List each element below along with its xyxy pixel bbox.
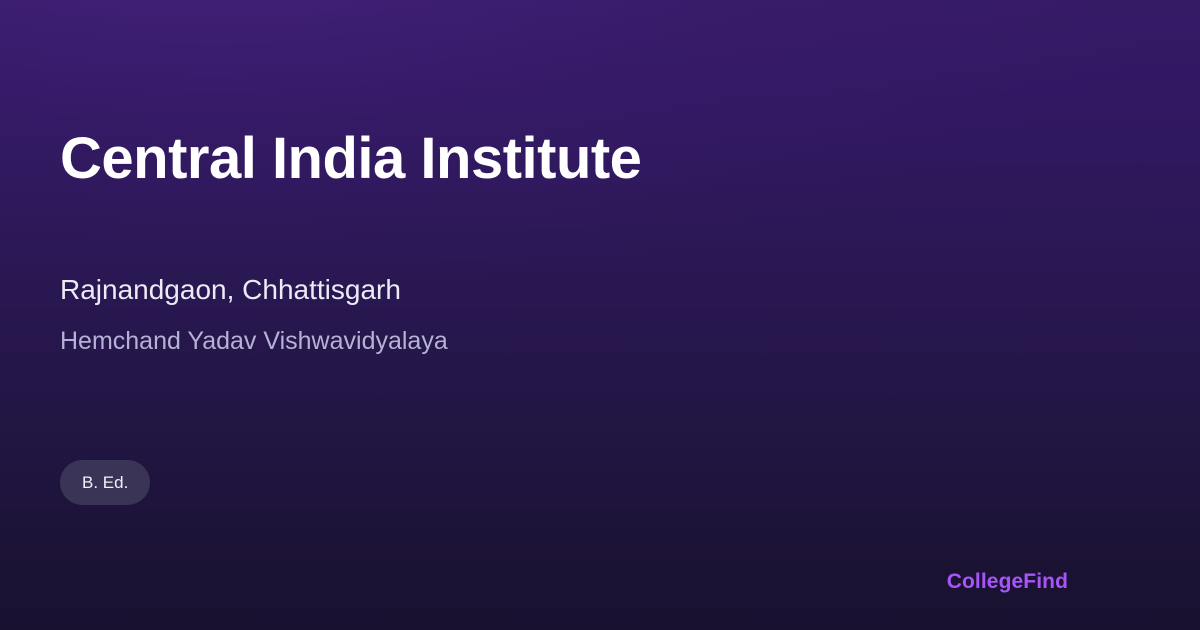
course-tag-b-ed: B. Ed. (60, 460, 150, 505)
page-title: Central India Institute (60, 128, 641, 191)
college-location: Rajnandgaon, Chhattisgarh (60, 272, 401, 307)
brand-logo-text: CollegeFind (947, 570, 1068, 594)
course-tag-list: B. Ed. (60, 460, 150, 505)
affiliated-university: Hemchand Yadav Vishwavidyalaya (60, 326, 448, 357)
og-preview-card: Central India Institute Rajnandgaon, Chh… (0, 0, 1200, 630)
card-content: Central India Institute Rajnandgaon, Chh… (60, 0, 960, 630)
